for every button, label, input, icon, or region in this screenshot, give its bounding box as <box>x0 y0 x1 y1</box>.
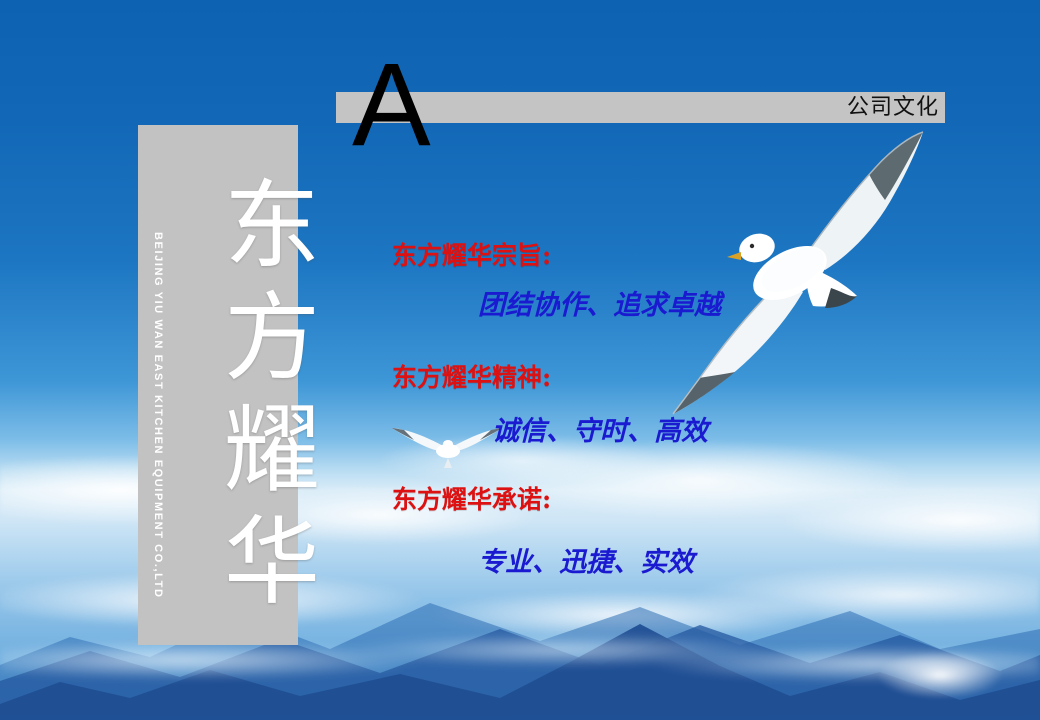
content-area: 东方耀华宗旨: 团结协作、追求卓越 东方耀华精神: 诚信、守时、高效 东方耀华承… <box>0 0 1040 720</box>
section-value-text: 专业、迅捷、实效 <box>478 548 694 578</box>
section-value-text: 团结协作、追求卓越 <box>478 291 721 321</box>
section-heading-text: 东方耀华宗旨: <box>392 242 551 270</box>
section-heading-text: 东方耀华承诺: <box>392 486 551 514</box>
section-value: 团结协作、追求卓越 <box>478 291 721 321</box>
section-heading-text: 东方耀华精神: <box>392 364 551 392</box>
section-heading: 东方耀华宗旨: <box>392 242 551 270</box>
section-value: 专业、迅捷、实效 <box>478 548 694 578</box>
section-value-text: 诚信、守时、高效 <box>492 417 708 447</box>
section-value: 诚信、守时、高效 <box>492 417 708 447</box>
section-heading: 东方耀华精神: <box>392 364 551 392</box>
slide-canvas: BEIJING YIU WAN EAST KITCHEN EQUIPMENT C… <box>0 0 1040 720</box>
section-heading: 东方耀华承诺: <box>392 486 551 514</box>
